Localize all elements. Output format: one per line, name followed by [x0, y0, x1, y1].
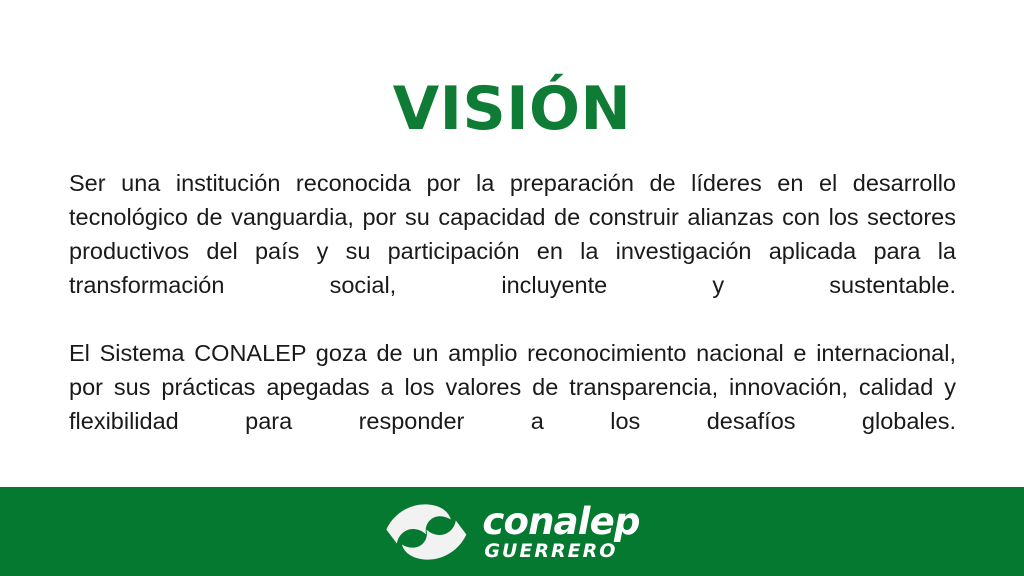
logo-words: conalep GUERRERO [482, 501, 639, 561]
logo-subwordmark: GUERRERO [484, 541, 617, 562]
paragraph-2: El Sistema CONALEP goza de un amplio rec… [69, 336, 956, 472]
logo-lockup: conalep GUERRERO [384, 501, 639, 561]
footer-band: conalep GUERRERO [0, 487, 1024, 576]
logo-wordmark: conalep [482, 503, 639, 538]
body-copy: Ser una institución reconocida por la pr… [69, 166, 956, 472]
conalep-swoosh-icon [384, 503, 468, 561]
paragraph-1: Ser una institución reconocida por la pr… [69, 166, 956, 336]
page-title: VISIÓN [0, 78, 1024, 141]
presentation-slide: VISIÓN Ser una institución reconocida po… [0, 0, 1024, 576]
